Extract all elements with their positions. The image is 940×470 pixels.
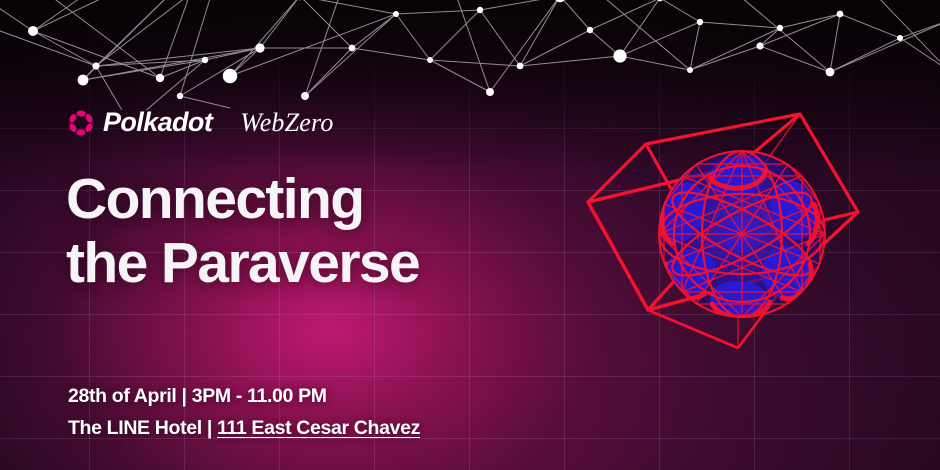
event-venue: The LINE Hotel | (68, 417, 217, 439)
event-date-time: 28th of April | 3PM - 11.00 PM (68, 380, 420, 412)
polkadot-wordmark: Polkadot (103, 107, 212, 138)
polkadot-dots-icon (68, 110, 94, 136)
event-banner: Polkadot WebZero Connecting the Paravers… (0, 0, 940, 470)
logo-lockup-row: Polkadot WebZero (68, 107, 334, 138)
event-address: 111 East Cesar Chavez (217, 417, 420, 439)
event-venue-row: The LINE Hotel | 111 East Cesar Chavez (68, 412, 420, 444)
event-details: 28th of April | 3PM - 11.00 PM The LINE … (68, 380, 420, 444)
polkadot-logo: Polkadot (68, 107, 212, 138)
webzero-wordmark: WebZero (240, 108, 333, 138)
page-title: Connecting the Paraverse (66, 168, 419, 296)
